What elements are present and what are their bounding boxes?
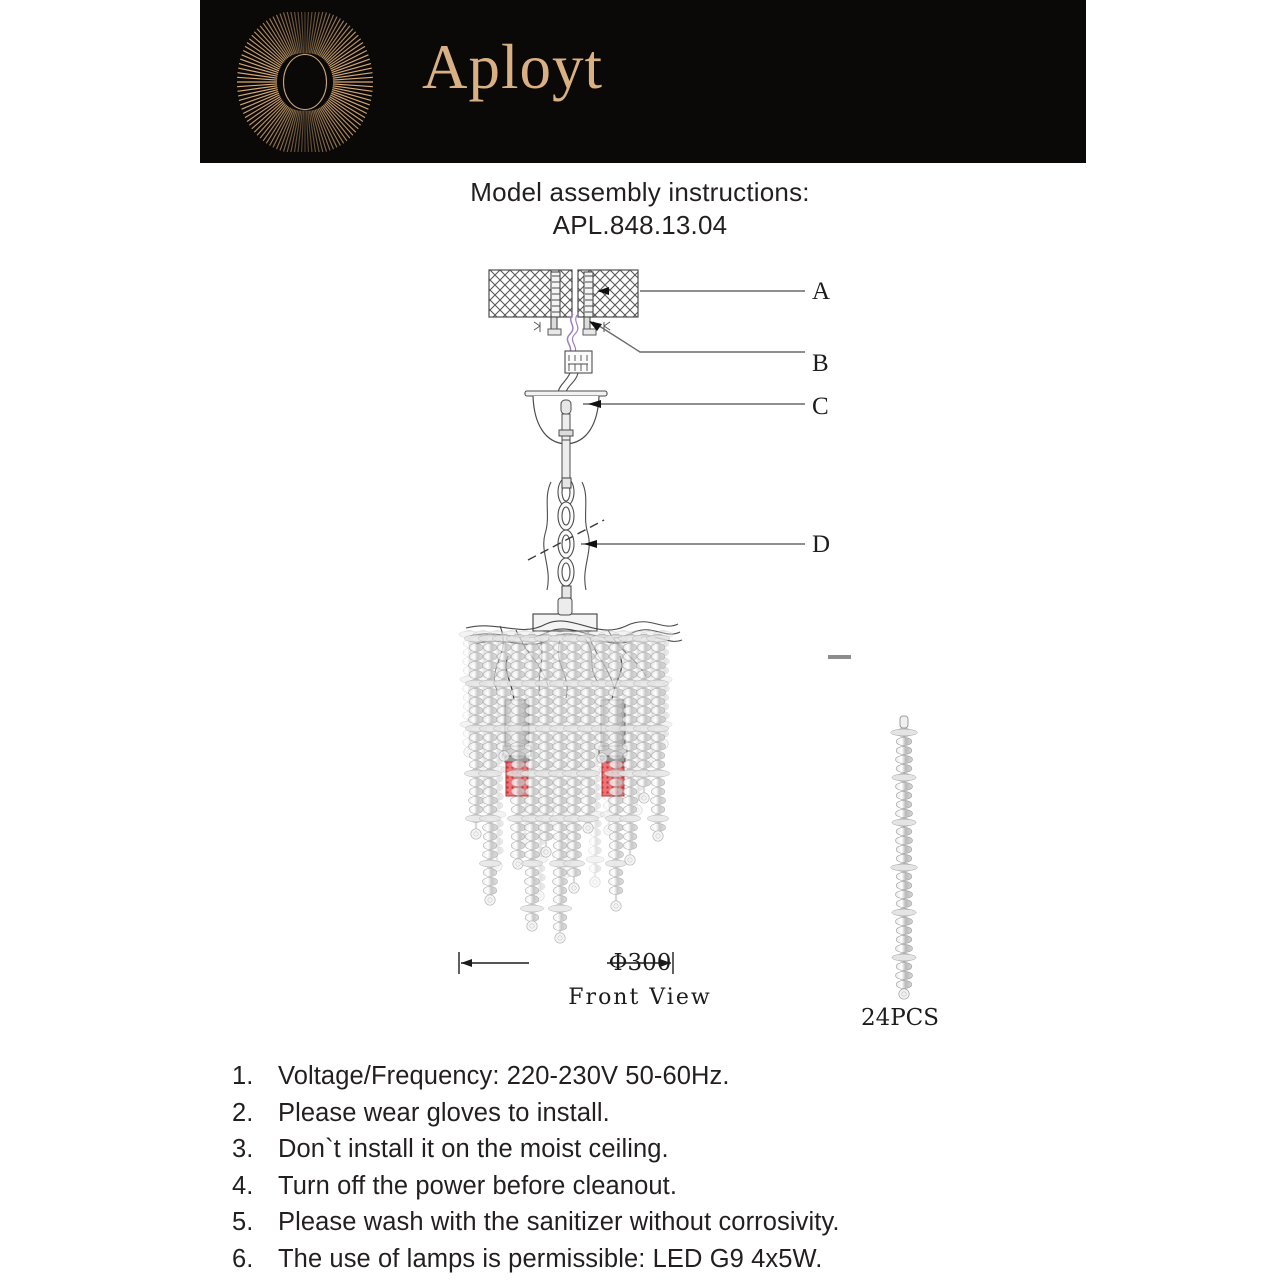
crystal-strand-part	[828, 655, 917, 999]
ceiling-slab-group	[489, 270, 638, 356]
callout-leaders	[581, 291, 805, 544]
separator-dash	[828, 655, 851, 659]
note-number: 1.	[232, 1058, 278, 1095]
terminal-connector-group	[558, 351, 592, 392]
diameter-label: Φ300	[0, 950, 1280, 976]
note-text: Please wear gloves to install.	[278, 1095, 1232, 1132]
title-line-1: Model assembly instructions:	[0, 176, 1280, 209]
suspension-chain-group	[528, 478, 604, 598]
callout-label-b: B	[812, 350, 829, 378]
note-text: Don`t install it on the moist ceiling.	[278, 1131, 1232, 1168]
list-item: 4. Turn off the power before cleanout.	[232, 1168, 1232, 1205]
part-count-label: 24PCS	[820, 1005, 980, 1031]
page-title: Model assembly instructions: APL.848.13.…	[0, 176, 1280, 242]
callout-label-a: A	[812, 278, 830, 306]
note-number: 6.	[232, 1241, 278, 1278]
note-number: 2.	[232, 1095, 278, 1132]
note-text: Turn off the power before cleanout.	[278, 1168, 1232, 1205]
lamp-socket-left	[503, 656, 531, 796]
instruction-sheet: Aployt Model assembly instructions: APL.…	[0, 0, 1280, 1280]
canopy-group	[525, 391, 607, 478]
callout-arrowheads	[584, 287, 609, 548]
sunburst-logo-icon	[235, 12, 375, 152]
lamp-socket-right	[599, 656, 627, 796]
list-item: 6. The use of lamps is permissible: LED …	[232, 1241, 1232, 1278]
list-item: 5. Please wash with the sanitizer withou…	[232, 1204, 1232, 1241]
note-text: The use of lamps is permissible: LED G9 …	[278, 1241, 1232, 1278]
chandelier-body-group	[459, 598, 682, 943]
list-item: 2. Please wear gloves to install.	[232, 1095, 1232, 1132]
list-item: 1. Voltage/Frequency: 220-230V 50-60Hz.	[232, 1058, 1232, 1095]
callout-label-d: D	[812, 531, 830, 559]
callout-label-c: C	[812, 393, 829, 421]
note-number: 5.	[232, 1204, 278, 1241]
note-number: 3.	[232, 1131, 278, 1168]
title-line-2: APL.848.13.04	[0, 209, 1280, 242]
instruction-list: 1. Voltage/Frequency: 220-230V 50-60Hz. …	[232, 1058, 1232, 1277]
break-line	[528, 520, 604, 560]
note-number: 4.	[232, 1168, 278, 1205]
note-text: Please wash with the sanitizer without c…	[278, 1204, 1232, 1241]
list-item: 3. Don`t install it on the moist ceiling…	[232, 1131, 1232, 1168]
note-text: Voltage/Frequency: 220-230V 50-60Hz.	[278, 1058, 1232, 1095]
brand-banner: Aployt	[200, 0, 1086, 163]
radial-fan-decoration-icon	[666, 0, 1086, 163]
brand-wordmark: Aployt	[422, 36, 603, 99]
view-label: Front View	[0, 985, 1280, 1010]
